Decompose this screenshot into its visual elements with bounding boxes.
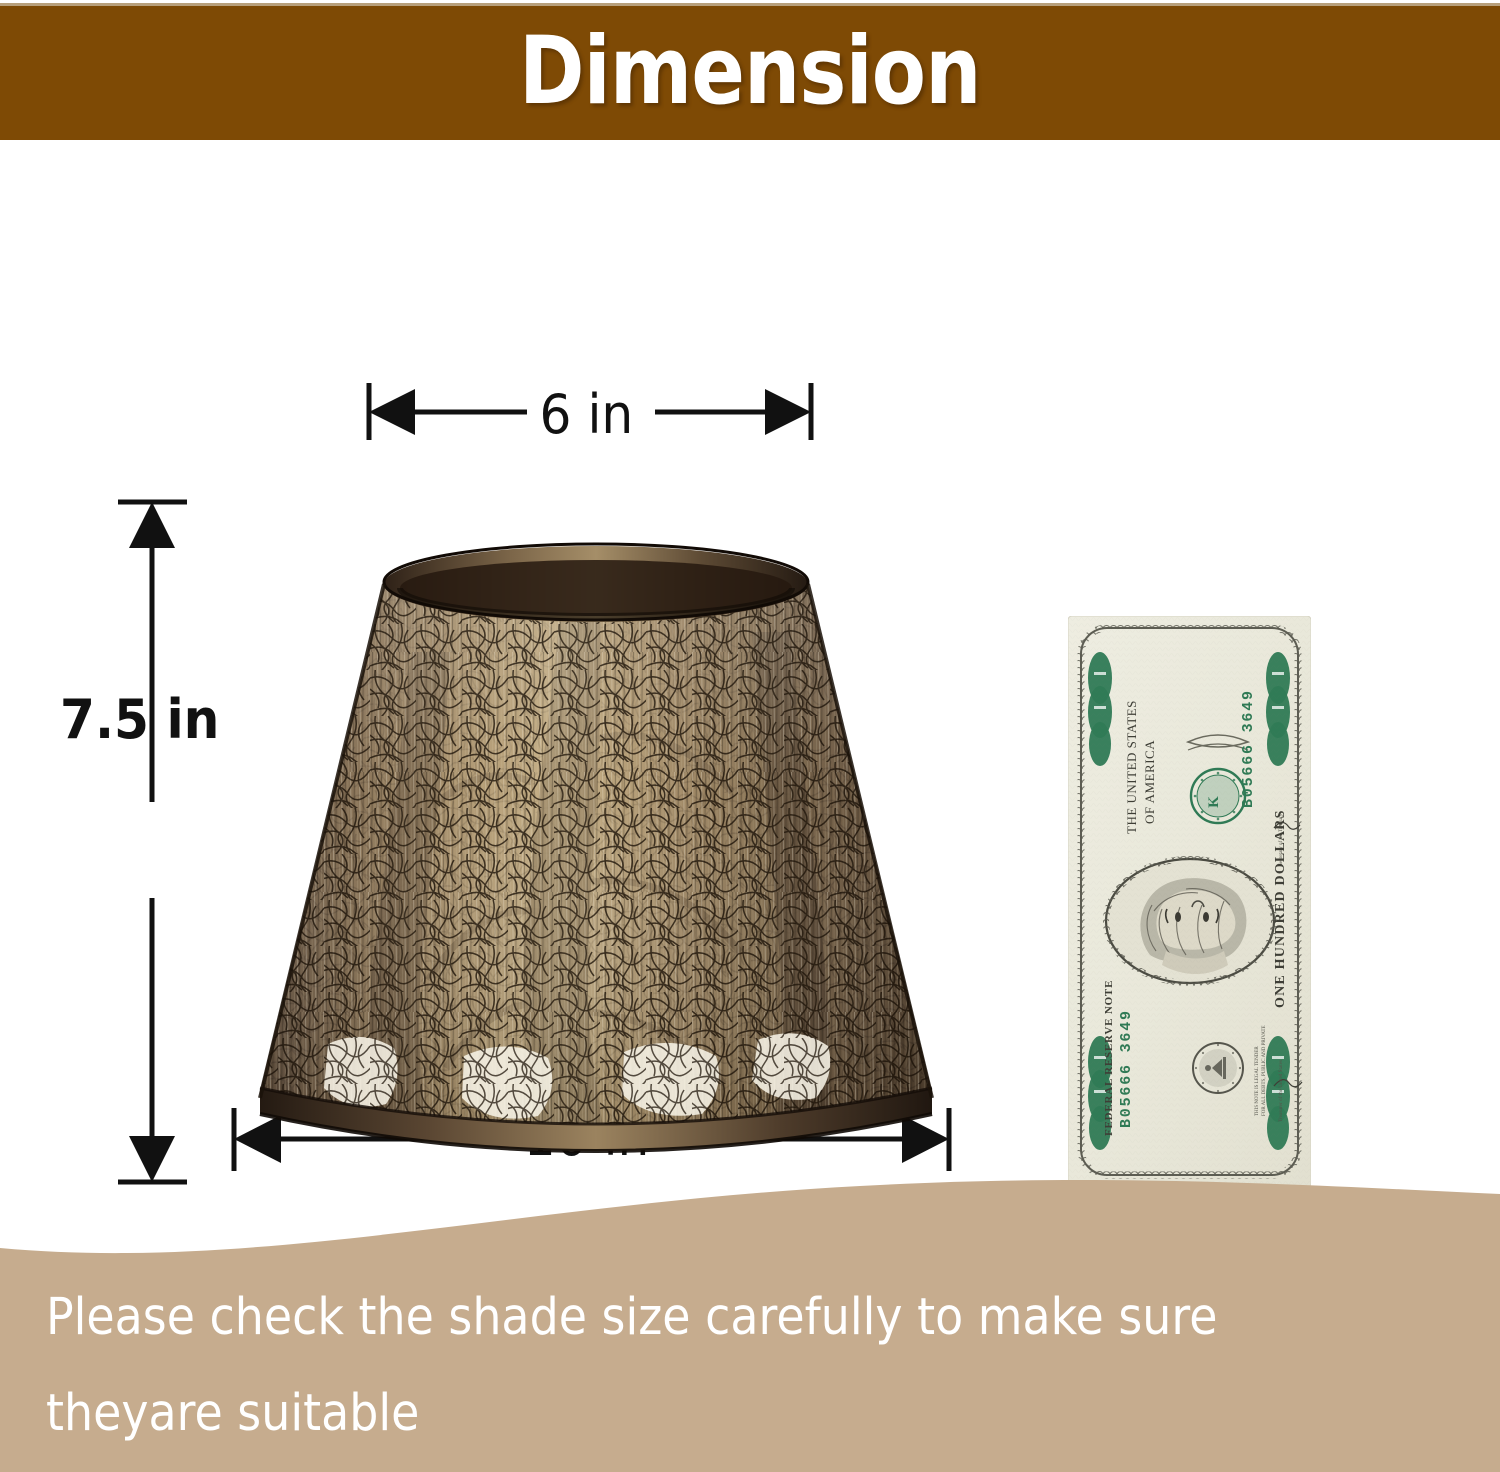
height-label: 7.5 in bbox=[60, 688, 219, 751]
hundred-dollar-bill-scale-reference: THE UNITED STATES OF AMERICA K B05666 36… bbox=[1068, 616, 1311, 1187]
header-top-accent-line bbox=[0, 3, 1500, 6]
footer-line-1: Please check the shade size carefully to… bbox=[46, 1270, 1333, 1462]
footer-line-2: for your light fixtures before purchasin… bbox=[46, 1462, 1333, 1472]
product-dimension-stage: 6 in 7.5 in 10 in bbox=[0, 140, 1500, 1250]
page-title: Dimension bbox=[519, 25, 981, 119]
lamp-shade-image bbox=[232, 532, 960, 1190]
header-banner: Dimension bbox=[0, 3, 1500, 140]
top-diameter-dimension-line bbox=[0, 258, 1000, 328]
footer-text-block: Please check the shade size carefully to… bbox=[46, 1270, 1333, 1472]
top-diameter-label: 6 in bbox=[540, 383, 634, 446]
footer-notice: Please check the shade size carefully to… bbox=[0, 1180, 1500, 1472]
